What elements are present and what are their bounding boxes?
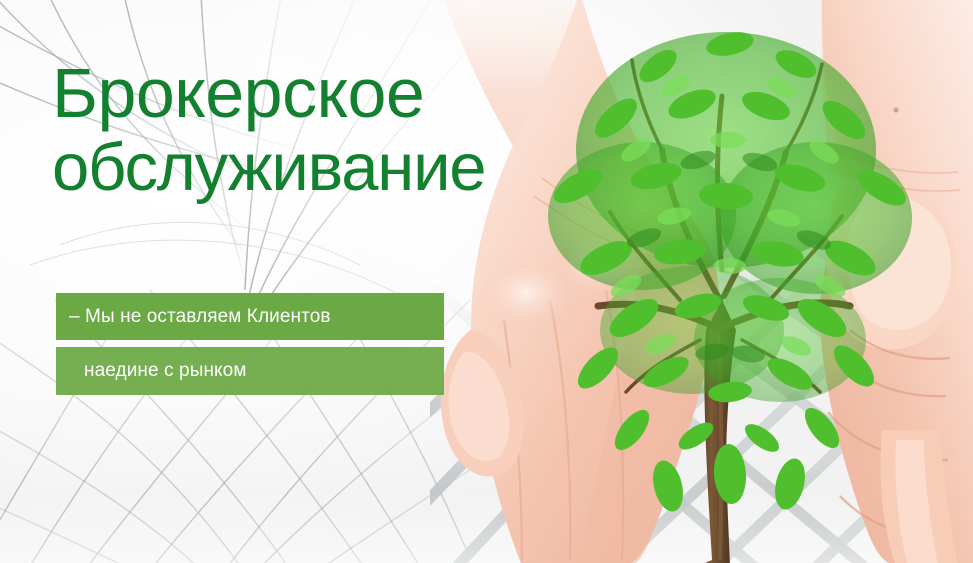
- hands-holding-tree-photo: [430, 0, 973, 563]
- headline-line-2: обслуживание: [52, 134, 472, 202]
- promo-banner: Брокерское обслуживание – Мы не оставляе…: [0, 0, 973, 563]
- slogan-bar-2-text: наедине с рынком: [56, 360, 247, 382]
- slogan-bar-group: – Мы не оставляем Клиентов наедине с рын…: [56, 293, 444, 395]
- slogan-bar-2: наедине с рынком: [56, 347, 444, 395]
- headline-line-1: Брокерское: [52, 58, 472, 129]
- page-title: Брокерское обслуживание: [52, 58, 472, 203]
- slogan-bar-1-text: – Мы не оставляем Клиентов: [56, 306, 331, 328]
- slogan-bar-1: – Мы не оставляем Клиентов: [56, 293, 444, 340]
